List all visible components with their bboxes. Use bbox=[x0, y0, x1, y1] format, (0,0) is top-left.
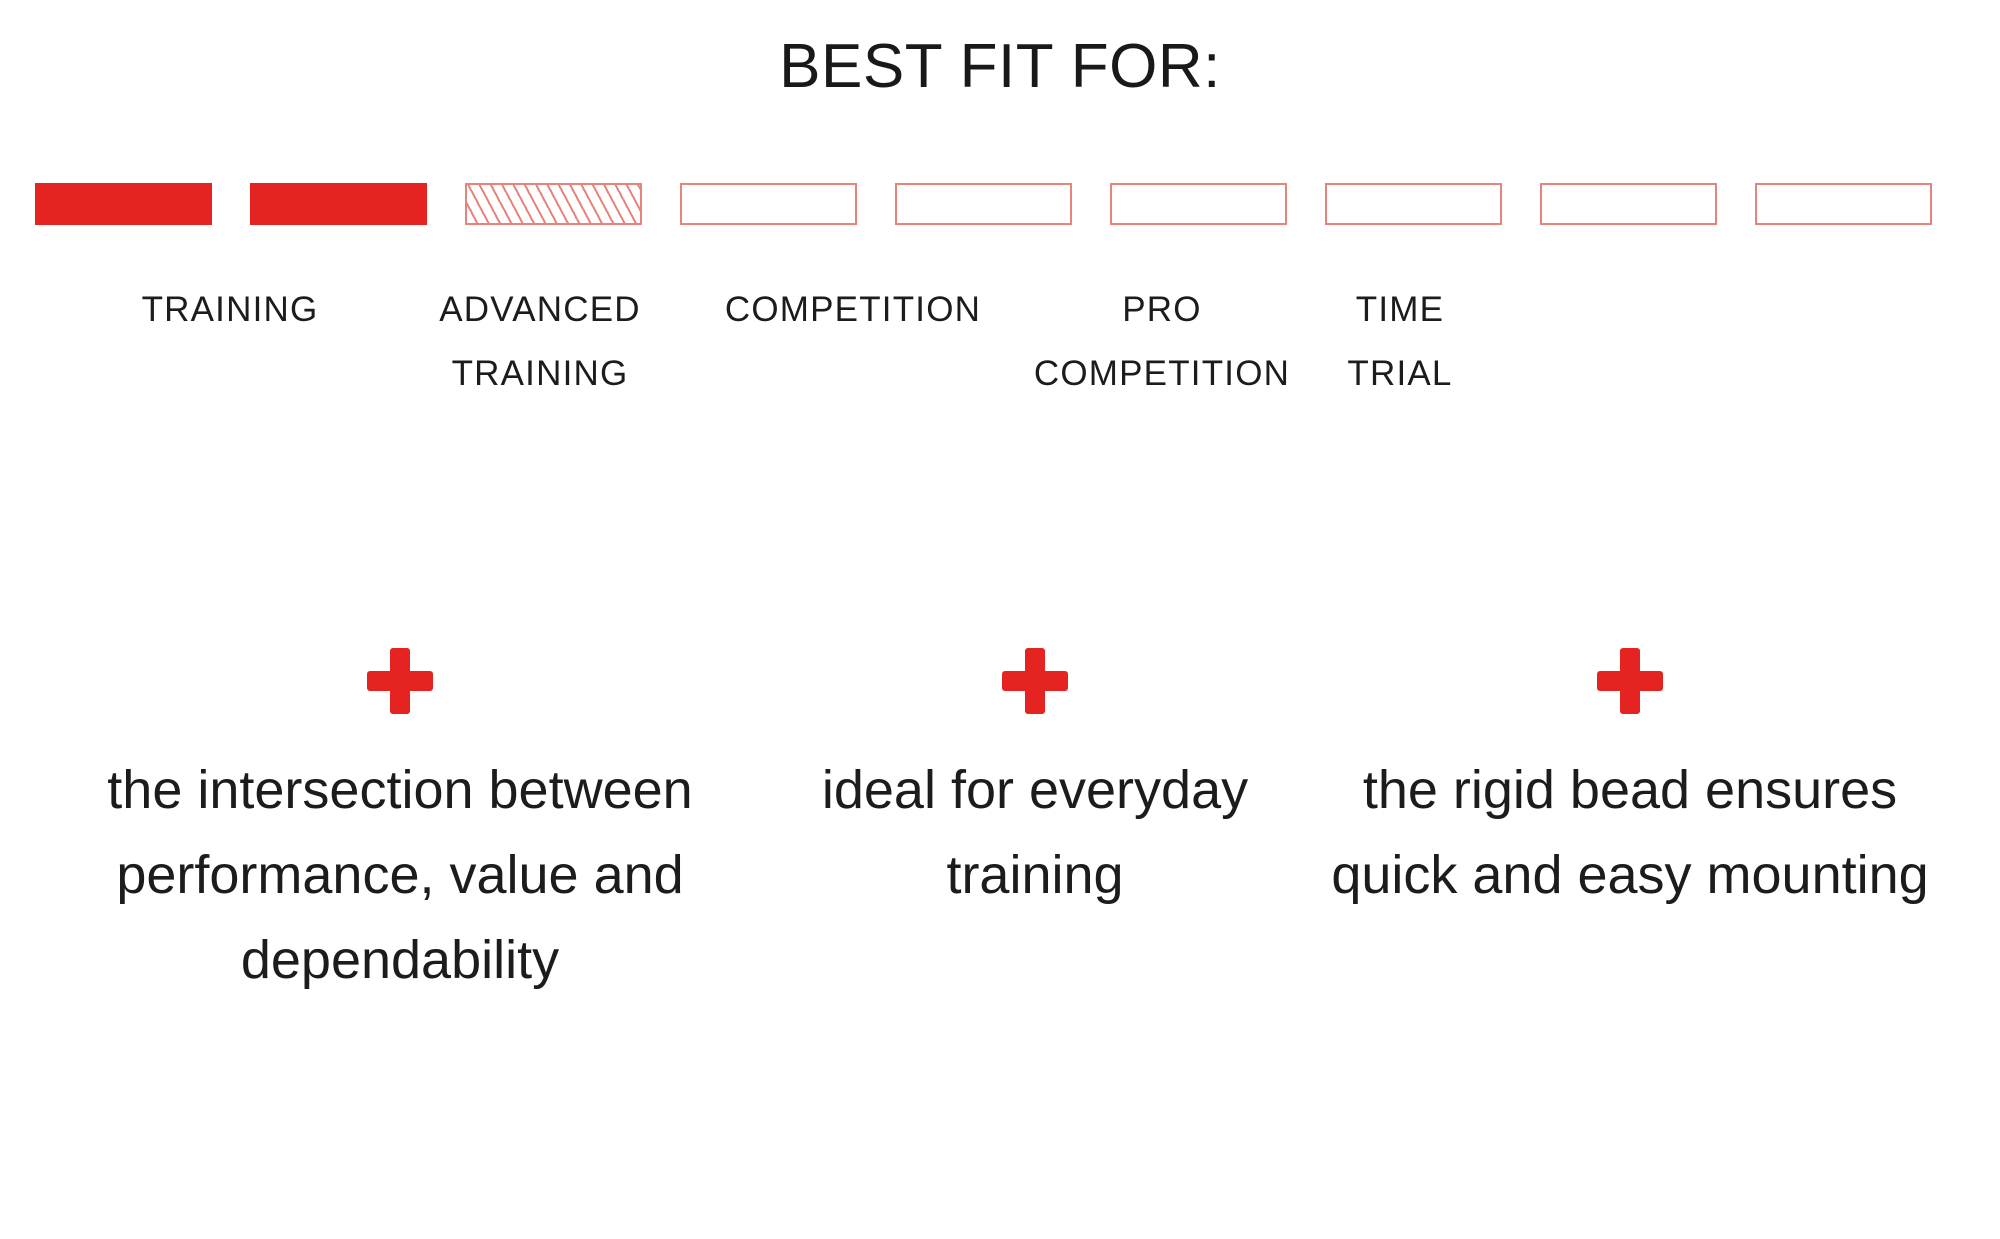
scale-segment-1[interactable] bbox=[35, 183, 212, 225]
plus-icon bbox=[1002, 648, 1068, 714]
scale-label-competition: COMPETITION bbox=[703, 278, 1003, 342]
scale-segment-7[interactable] bbox=[1325, 183, 1502, 225]
scale-segment-2[interactable] bbox=[250, 183, 427, 225]
scale-segment-5[interactable] bbox=[895, 183, 1072, 225]
feature-item-2: ideal for everyday training bbox=[735, 648, 1335, 918]
feature-text-1: the intersection between performance, va… bbox=[75, 748, 725, 1003]
best-fit-scale bbox=[35, 183, 1967, 225]
scale-label-time-trial: TIME TRIAL bbox=[1250, 278, 1550, 406]
scale-segment-4[interactable] bbox=[680, 183, 857, 225]
scale-segment-6[interactable] bbox=[1110, 183, 1287, 225]
feature-item-1: the intersection between performance, va… bbox=[75, 648, 725, 1003]
feature-text-2: ideal for everyday training bbox=[735, 748, 1335, 918]
page-title: BEST FIT FOR: bbox=[0, 33, 2000, 101]
scale-segment-3[interactable] bbox=[465, 183, 642, 225]
feature-text-3: the rigid bead ensures quick and easy mo… bbox=[1330, 748, 1930, 918]
scale-label-advanced-training: ADVANCED TRAINING bbox=[390, 278, 690, 406]
plus-icon bbox=[367, 648, 433, 714]
plus-icon bbox=[1597, 648, 1663, 714]
scale-segment-8[interactable] bbox=[1540, 183, 1717, 225]
scale-segment-9[interactable] bbox=[1755, 183, 1932, 225]
scale-label-training: TRAINING bbox=[80, 278, 380, 342]
feature-item-3: the rigid bead ensures quick and easy mo… bbox=[1330, 648, 1930, 918]
scale-labels: TRAINING ADVANCED TRAINING COMPETITION P… bbox=[0, 278, 2000, 398]
